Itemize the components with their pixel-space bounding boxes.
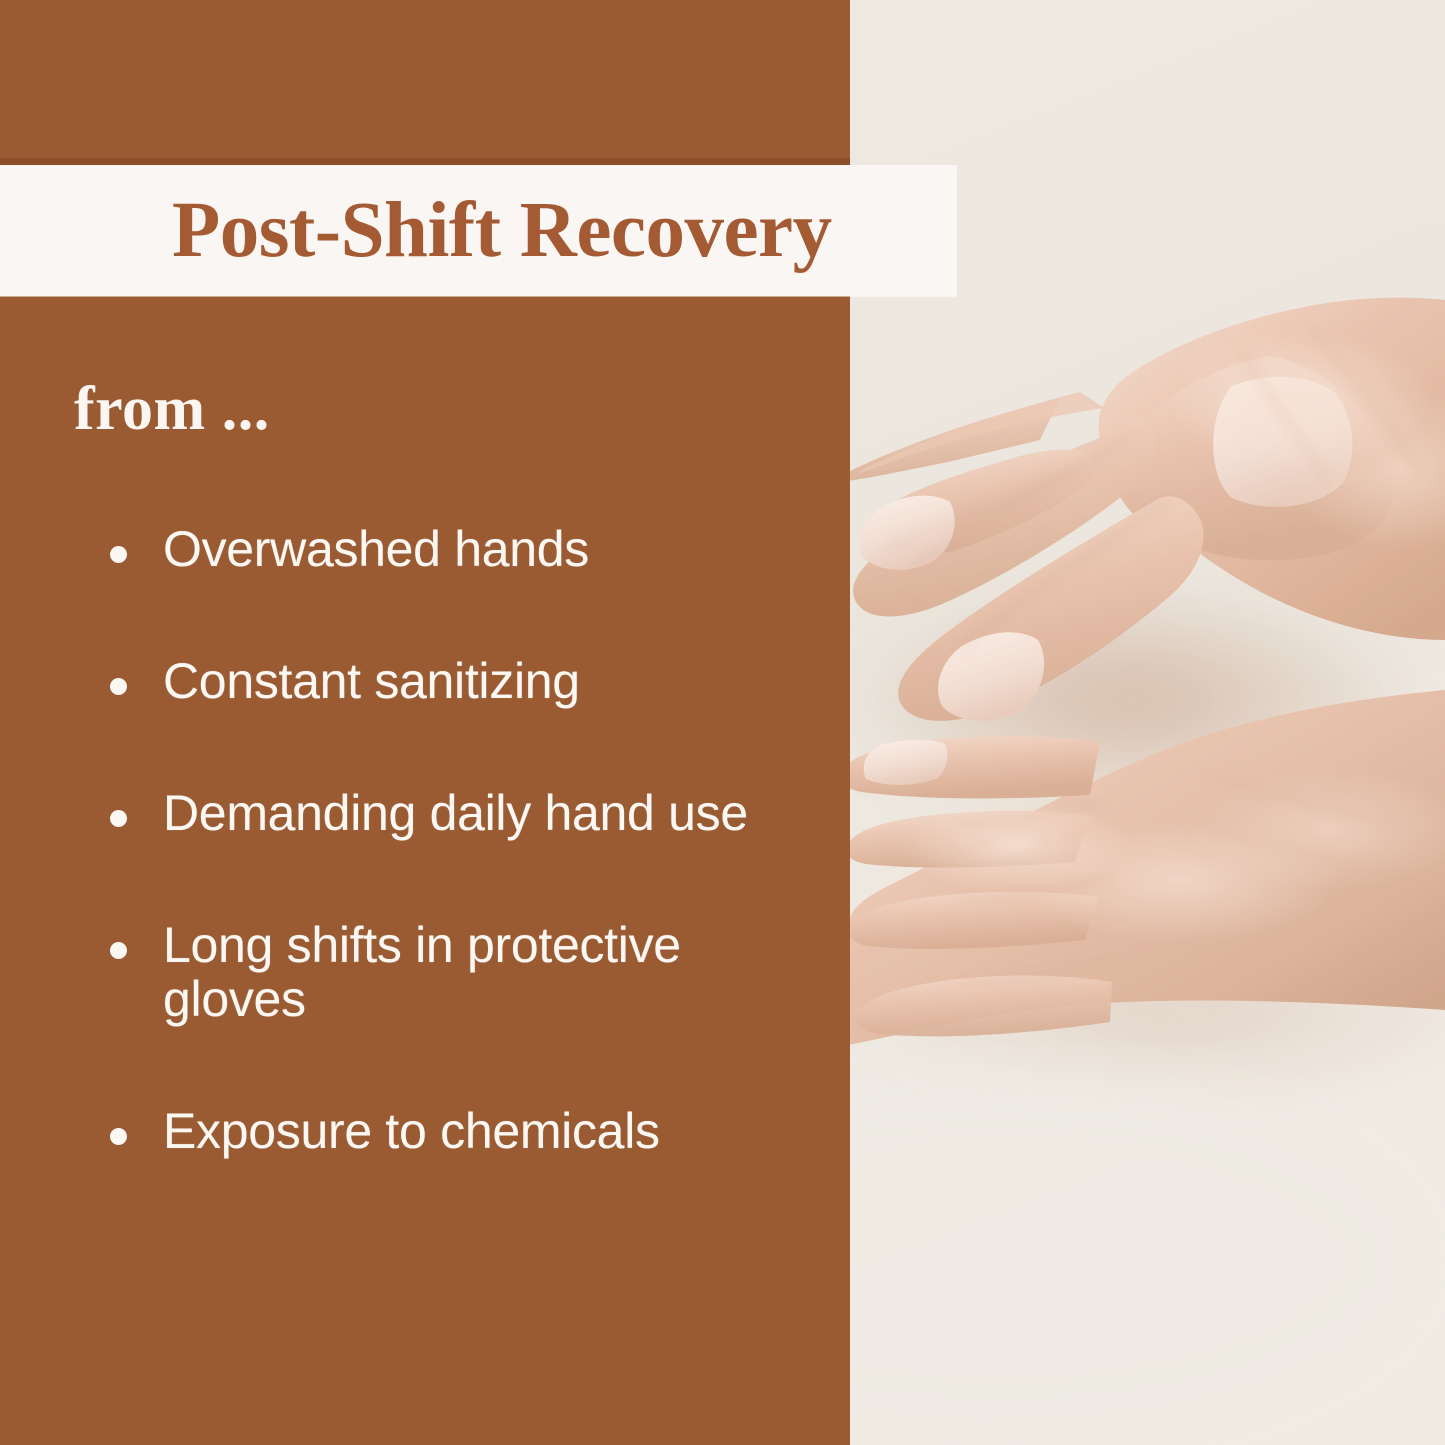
list-item-label: Overwashed hands: [163, 521, 589, 577]
pain-point-list: Overwashed hands Constant sanitizing Dem…: [98, 522, 798, 1158]
list-item-label: Demanding daily hand use: [163, 785, 748, 841]
list-item-label: Constant sanitizing: [163, 653, 580, 709]
bullet-dot-icon: [110, 942, 127, 959]
intro-heading: from ...: [74, 378, 270, 440]
list-item-label: Exposure to chemicals: [163, 1103, 660, 1159]
list-item: Demanding daily hand use: [98, 786, 783, 840]
poster-root: Post-Shift Recovery from ... Overwashed …: [0, 0, 1445, 1445]
bullet-dot-icon: [110, 1128, 127, 1145]
panel-hairline: [0, 158, 850, 165]
list-item: Long shifts in protective gloves: [98, 918, 783, 1026]
list-item: Constant sanitizing: [98, 654, 783, 708]
list-item-label: Long shifts in protective gloves: [163, 917, 681, 1027]
bullet-dot-icon: [110, 546, 127, 563]
list-item: Exposure to chemicals: [98, 1104, 783, 1158]
bullet-dot-icon: [110, 810, 127, 827]
page-title: Post-Shift Recovery: [172, 191, 832, 270]
title-banner: Post-Shift Recovery: [0, 165, 957, 296]
list-item: Overwashed hands: [98, 522, 783, 576]
bullet-dot-icon: [110, 678, 127, 695]
